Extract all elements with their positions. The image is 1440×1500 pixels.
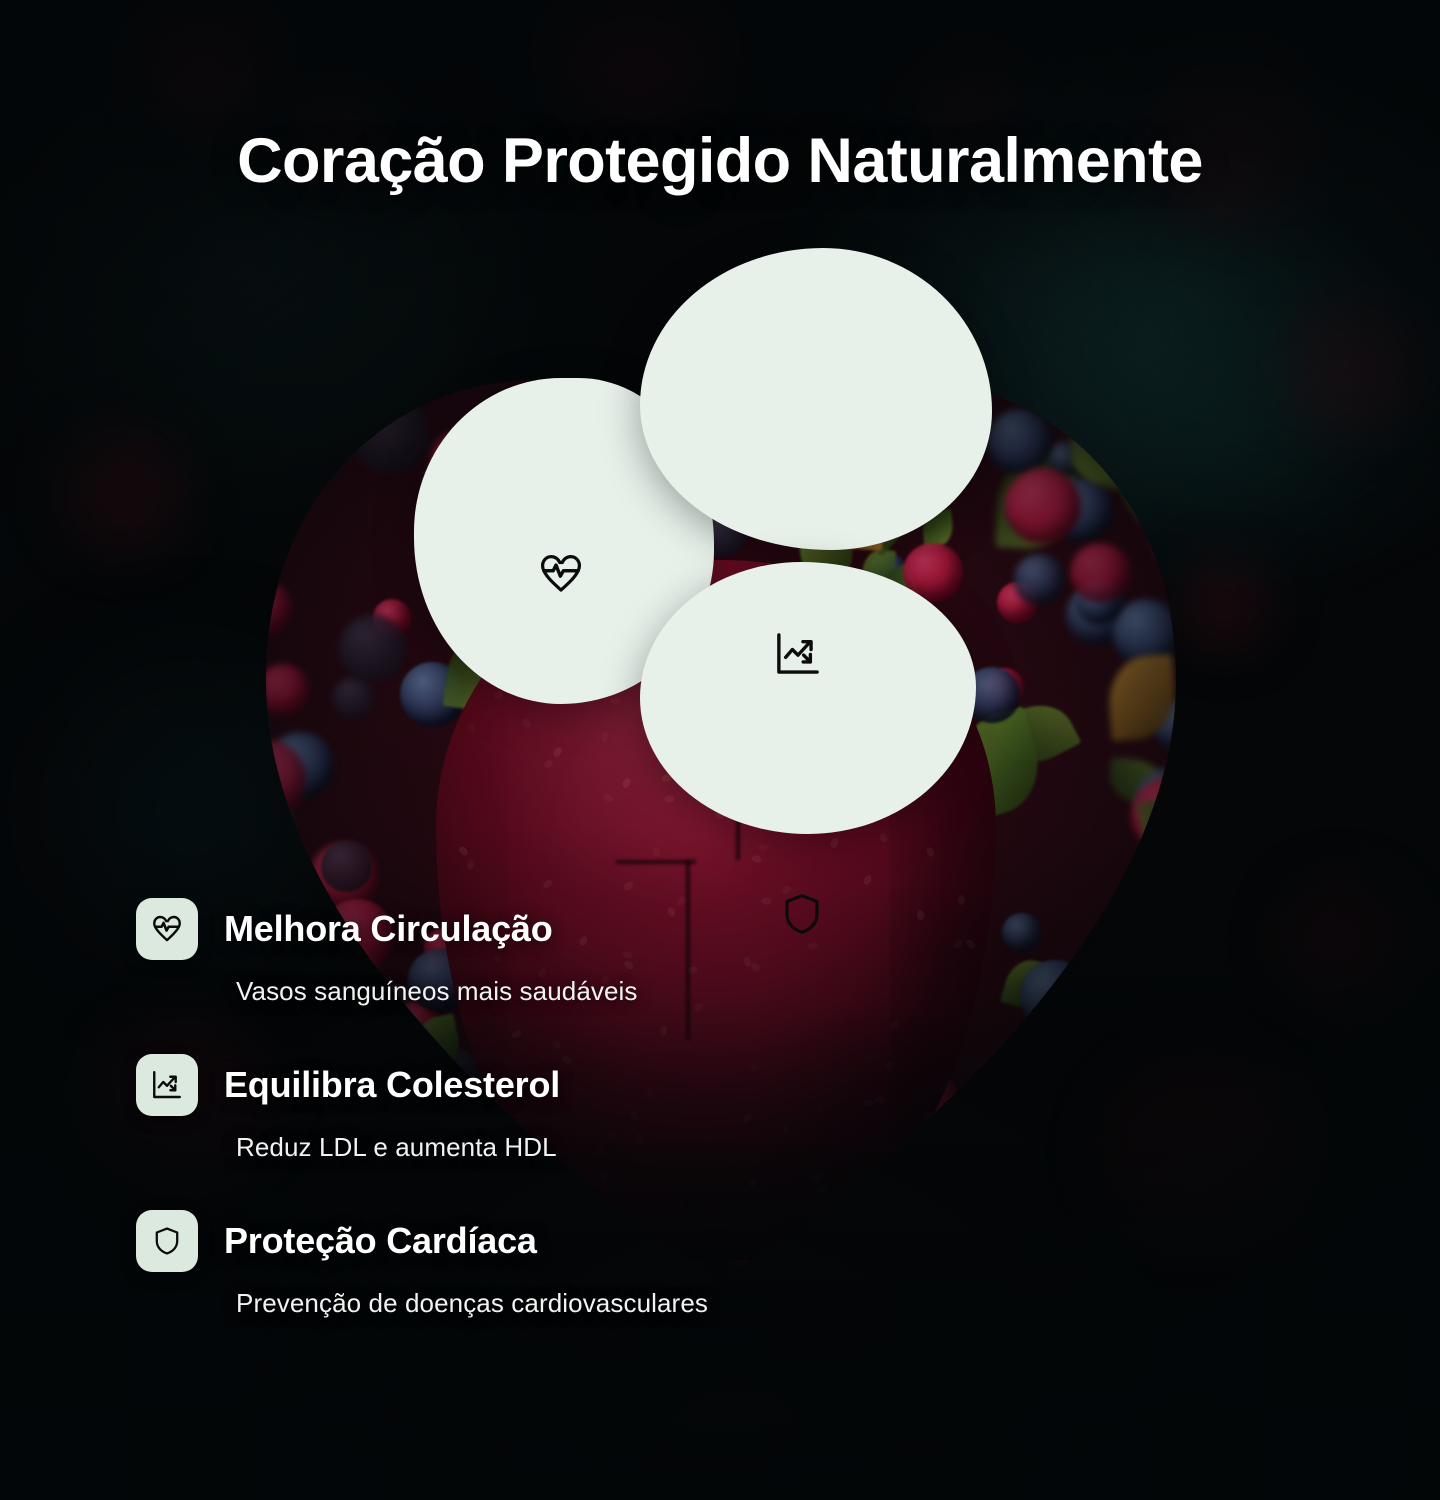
feature-title: Equilibra Colesterol	[224, 1064, 560, 1106]
berry-decoration	[1143, 1129, 1186, 1172]
bokeh-berry	[1290, 300, 1420, 430]
feature-title: Proteção Cardíaca	[224, 1220, 537, 1262]
berry-decoration	[206, 340, 259, 412]
berry-decoration	[1100, 391, 1173, 464]
berry-decoration	[1108, 424, 1152, 461]
feature-description: Vasos sanguíneos mais saudáveis	[236, 976, 1136, 1007]
berry-decoration	[1190, 641, 1222, 673]
feature-header: Proteção Cardíaca	[136, 1210, 1136, 1272]
berry-decoration	[294, 438, 339, 483]
petal-cholesterol[interactable]	[640, 248, 992, 550]
berry-decoration	[326, 341, 393, 408]
berry-decoration	[1075, 300, 1122, 331]
heart-pulse-icon	[136, 898, 198, 960]
berry-decoration	[1165, 464, 1210, 509]
berry-decoration	[226, 624, 254, 652]
three-petal-cluster	[408, 248, 1008, 858]
berry-decoration	[221, 399, 271, 449]
berry-decoration	[1202, 327, 1234, 359]
bokeh-berry	[150, 10, 260, 120]
feature-description: Reduz LDL e aumenta HDL	[236, 1132, 1136, 1163]
feature-header: Equilibra Colesterol	[136, 1054, 1136, 1116]
berry-decoration	[1168, 1179, 1236, 1254]
berry-decoration	[219, 312, 272, 365]
berry-decoration	[1181, 686, 1233, 737]
berry-decoration	[1177, 993, 1236, 1058]
berry-decoration	[1207, 983, 1236, 1024]
berry-decoration	[234, 369, 302, 437]
petal-protection[interactable]	[640, 562, 976, 834]
feature-item-cholesterol: Equilibra Colesterol Reduz LDL e aumenta…	[136, 1054, 1136, 1163]
feature-list: Melhora Circulação Vasos sanguíneos mais…	[136, 898, 1136, 1366]
berry-decoration	[1168, 517, 1202, 551]
berry-decoration	[245, 490, 287, 532]
berry-decoration	[1184, 738, 1236, 792]
berry-decoration	[274, 838, 305, 869]
feature-description: Prevenção de doenças cardiovasculares	[236, 1288, 1136, 1319]
shield-icon	[136, 1210, 198, 1272]
berry-decoration	[342, 326, 412, 396]
berry-decoration	[1133, 1068, 1236, 1177]
berry-decoration	[1138, 300, 1185, 339]
berry-decoration	[1135, 939, 1166, 970]
berry-decoration	[1188, 1227, 1236, 1300]
heart-pulse-icon	[535, 548, 587, 600]
berry-decoration	[325, 300, 364, 321]
berry-decoration	[286, 423, 317, 454]
feature-item-circulation: Melhora Circulação Vasos sanguíneos mais…	[136, 898, 1136, 1007]
poster-canvas: Coração Protegido Naturalmente	[0, 0, 1440, 1500]
chart-trend-icon	[770, 626, 826, 682]
berry-decoration	[216, 792, 296, 872]
berry-decoration	[216, 481, 264, 529]
bokeh-berry	[1280, 880, 1400, 1000]
berry-decoration	[223, 708, 271, 756]
berry-decoration	[1106, 338, 1168, 403]
berry-decoration	[1186, 469, 1236, 528]
berry-decoration	[300, 392, 362, 462]
berry-decoration	[243, 327, 319, 403]
berry-decoration	[1152, 517, 1203, 568]
page-title: Coração Protegido Naturalmente	[0, 128, 1440, 194]
feature-header: Melhora Circulação	[136, 898, 1136, 960]
feature-item-protection: Proteção Cardíaca Prevenção de doenças c…	[136, 1210, 1136, 1319]
berry-decoration	[1158, 1258, 1222, 1300]
bokeh-berry	[60, 430, 180, 550]
feature-title: Melhora Circulação	[224, 908, 553, 950]
berry-decoration	[217, 739, 270, 792]
chart-trend-icon	[136, 1054, 198, 1116]
berry-decoration	[231, 300, 268, 330]
berry-decoration	[325, 300, 360, 322]
berry-decoration	[1182, 337, 1236, 399]
